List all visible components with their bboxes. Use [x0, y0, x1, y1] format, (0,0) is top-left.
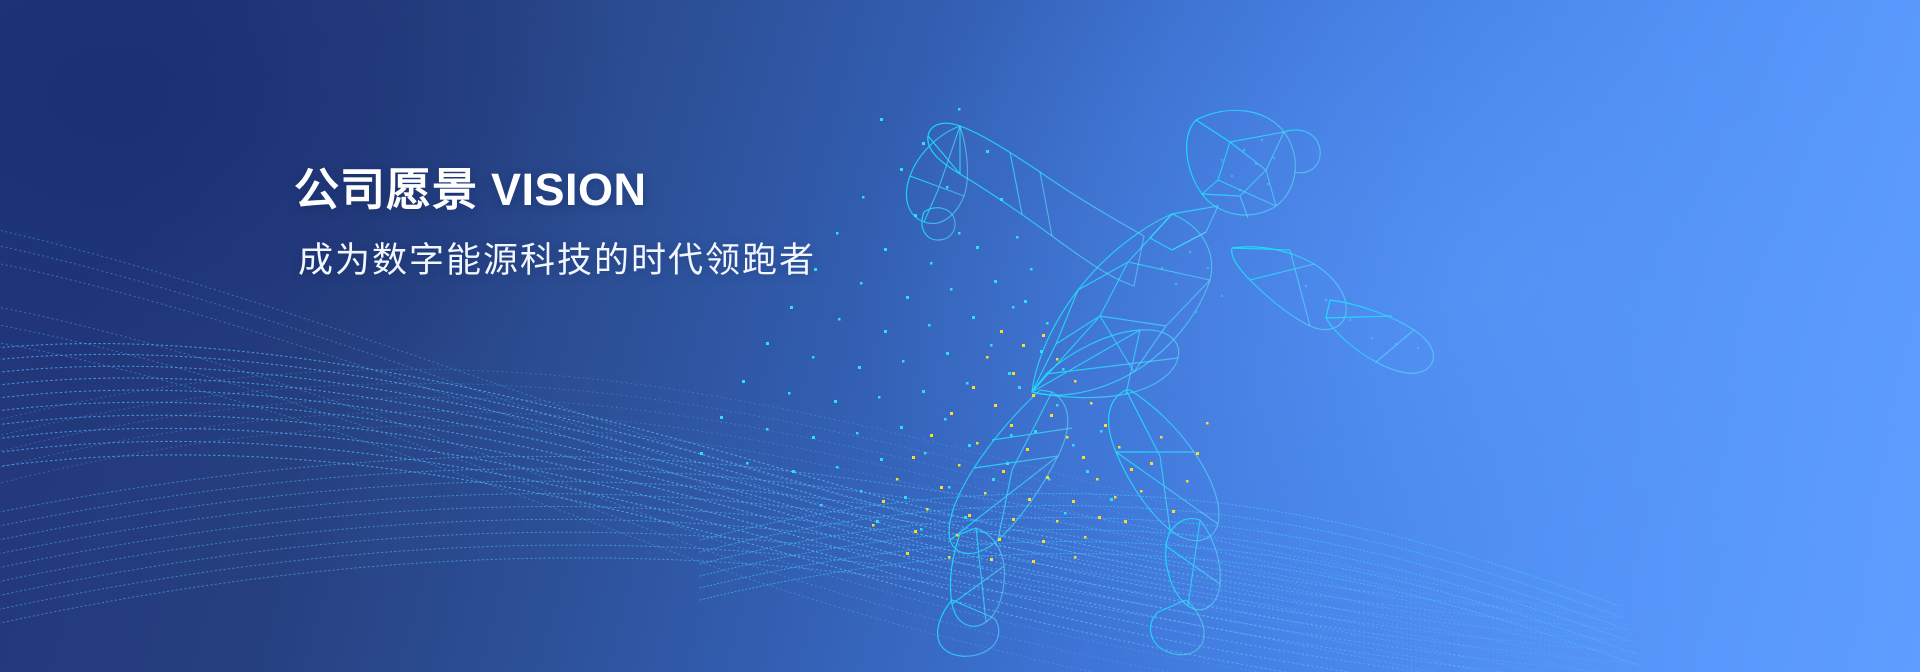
particle-dissolve-graphic	[0, 0, 1920, 672]
banner-text-block: 公司愿景 VISION 成为数字能源科技的时代领跑者	[294, 163, 816, 284]
vision-banner: 公司愿景 VISION 成为数字能源科技的时代领跑者	[0, 0, 1920, 672]
wave-mesh-graphic	[0, 0, 1920, 672]
page-title: 公司愿景 VISION	[294, 163, 816, 216]
headline-english: VISION	[478, 164, 647, 215]
background-glow	[0, 0, 1920, 672]
page-subtitle: 成为数字能源科技的时代领跑者	[298, 238, 816, 284]
running-man-wireframe-icon	[0, 0, 1920, 672]
headline-chinese: 公司愿景	[294, 164, 478, 215]
